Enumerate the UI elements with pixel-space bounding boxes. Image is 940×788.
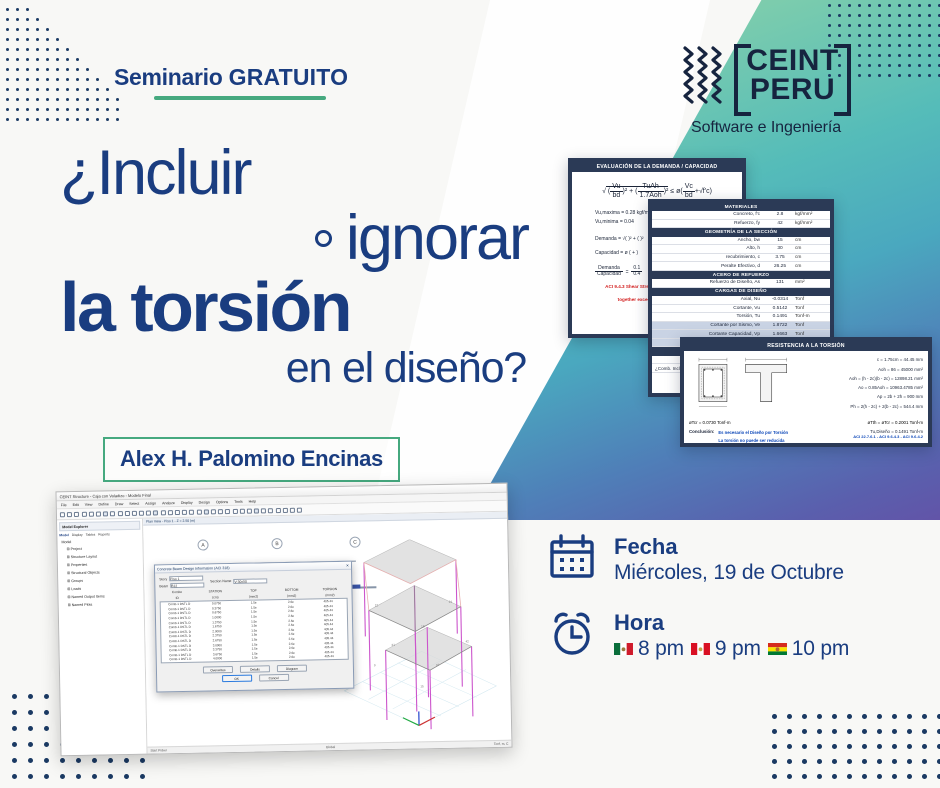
date-value: Miércoles, 19 de Octubre [614, 559, 844, 586]
card3-math-line: Ao = 0.85Aoh = 10963.4785 mm² [801, 383, 923, 392]
card3-code-line: ACI 22.7.6.1 - ACI 9.6.4.3 - ACI 9.6.4.2 [853, 434, 923, 439]
dot [802, 744, 807, 749]
dot [862, 759, 867, 764]
dialog-column-header: TOP [236, 588, 271, 593]
dialog-field-story: Story Piso 1 [159, 576, 204, 582]
dot [922, 774, 927, 779]
dot [922, 729, 927, 734]
toolbar-button[interactable] [96, 511, 101, 516]
timezone-list: 8 pm9 pm10 pm [614, 637, 849, 661]
dot [892, 714, 897, 719]
app-menu-item[interactable]: Analyze [162, 501, 175, 505]
toolbar-button[interactable] [196, 509, 201, 514]
dot [847, 744, 852, 749]
dialog-button[interactable]: Diagram [277, 665, 307, 673]
model-explorer-item[interactable]: ⊞ Named Plots [61, 600, 142, 609]
dot [922, 744, 927, 749]
toolbar-button[interactable] [139, 510, 144, 515]
toolbar-button[interactable] [275, 508, 280, 513]
logo-tagline: Software e Ingeniería [666, 119, 866, 137]
dot [802, 759, 807, 764]
toolbar-button[interactable] [160, 510, 165, 515]
card3-math-line: Ap = 2b + 2h = 900 mm [801, 392, 923, 401]
dot [787, 759, 792, 764]
kicker-text-part2: GRATUITO [229, 64, 349, 90]
card2-table-row: Torsión, Tu0.1491Tonf-m [652, 313, 830, 322]
headline-line-1: ¿Incluir [60, 142, 530, 205]
dialog-title: Concrete Beam Design Information (ACI 31… [157, 566, 230, 571]
toolbar-button[interactable] [204, 509, 209, 514]
flag-bolivia-icon [768, 642, 787, 655]
dialog-column-header: BOTTOM [274, 588, 309, 593]
dot [832, 774, 837, 779]
timezone-entry: 8 pm [614, 637, 684, 661]
seminar-kicker: Seminario GRATUITO [114, 64, 348, 100]
dialog-unit-cell: (mm2) [236, 594, 271, 599]
card2-table-row: Refuerzo, fy42kgf/mm² [652, 220, 830, 229]
dot [817, 729, 822, 734]
logo-bracket-frame: CEINT PERU [734, 44, 851, 108]
card2-section-title: CARGAS DE DISEÑO [652, 288, 830, 296]
toolbar-button[interactable] [261, 508, 266, 513]
beam-input[interactable]: B12 [170, 583, 204, 589]
story-input[interactable]: Piso 1 [169, 576, 203, 582]
model-explorer-tabs[interactable]: ModelDisplayTablesReports [59, 531, 140, 537]
software-screenshot: CEINT Structure - Caja con Voladizo - Mo… [55, 483, 512, 757]
dialog-close-icon[interactable]: ✕ [346, 563, 349, 567]
toolbar-button[interactable] [283, 507, 288, 512]
dot [907, 714, 912, 719]
timezone-time: 9 pm [715, 637, 761, 661]
svg-text:9: 9 [374, 663, 376, 667]
model-explorer-tab[interactable]: Reports [98, 532, 110, 536]
dot [847, 729, 852, 734]
dot [832, 714, 837, 719]
app-menu-item[interactable]: Define [98, 502, 108, 506]
dialog-column-header: TORSION [312, 587, 347, 592]
card2-table-row: Alto, h30cm [652, 245, 830, 254]
time-label: Hora [614, 610, 849, 635]
dialog-field-beam: Beam B12 [159, 583, 204, 589]
dialog-unit-cell: (mm2) [312, 593, 347, 598]
app-menu-item[interactable]: File [61, 503, 67, 507]
zigzag-wave-icon [681, 45, 725, 107]
card3-math-lines: c = 1.75cm = 44.45 mmAoh = 86 = 45000 mm… [801, 355, 923, 416]
model-explorer-tab[interactable]: Model [59, 533, 69, 537]
model-explorer-panel[interactable]: Model Explorer ModelDisplayTablesReports… [57, 519, 147, 756]
toolbar-button[interactable] [232, 508, 237, 513]
dot [772, 714, 777, 719]
dot [832, 744, 837, 749]
svg-text:42: 42 [465, 639, 469, 643]
dot [772, 759, 777, 764]
model-explorer-header: Model Explorer [59, 521, 140, 532]
dot [772, 744, 777, 749]
event-date-row: Fecha Miércoles, 19 de Octubre [548, 533, 928, 587]
dot [907, 744, 912, 749]
timezone-entry: 10 pm [768, 637, 849, 661]
dot [862, 729, 867, 734]
card3-section-figures [689, 355, 797, 416]
svg-text:31: 31 [391, 643, 395, 647]
toolbar-button[interactable] [132, 510, 137, 515]
dot [847, 774, 852, 779]
dot [787, 729, 792, 734]
app-menu-item[interactable]: Help [249, 499, 256, 503]
dot [907, 759, 912, 764]
app-menu-item[interactable]: Assign [145, 501, 156, 505]
toolbar-button[interactable] [103, 511, 108, 516]
model-explorer-items[interactable]: Model⊞ Project⊞ Structure Layout⊞ Proper… [59, 537, 141, 610]
card3-math-line: Aoh = 86 = 45000 mm² [801, 365, 923, 374]
dialog-ok-button[interactable]: OK [222, 675, 252, 683]
grid-label-a: A [197, 539, 208, 550]
dot [817, 759, 822, 764]
dot [802, 729, 807, 734]
card2-table-row: Axial, Nu-0.0314Tonf [652, 296, 830, 305]
svg-text:18: 18 [421, 624, 425, 628]
status-right: Tonf, m, C [494, 742, 509, 746]
dot [817, 774, 822, 779]
dot [892, 744, 897, 749]
svg-text:24: 24 [449, 600, 453, 604]
brand-logo: CEINT PERU Software e Ingeniería [666, 44, 866, 137]
grid-label-b: B [271, 538, 282, 549]
kicker-underline [154, 96, 326, 100]
toolbar-button[interactable] [211, 509, 216, 514]
headline-line-3: la torsión [60, 271, 530, 345]
dot [817, 714, 822, 719]
model-explorer-tab[interactable]: Tables [86, 532, 96, 536]
dialog-column-header: STATION [198, 589, 233, 594]
model-explorer-tab[interactable]: Display [72, 532, 83, 536]
app-menu-item[interactable]: Edit [73, 502, 79, 506]
dot [862, 744, 867, 749]
card3-conclusion-label: Conclusión: [689, 429, 714, 434]
section-input[interactable]: V-30x50 [233, 578, 267, 584]
logo-word-peru: PERU [746, 76, 839, 105]
dot [922, 714, 927, 719]
card1-title: EVALUACIÓN DE LA DEMANDA / CAPACIDAD [572, 162, 742, 172]
page-title: ¿Incluir ignorar la torsión en el diseño… [60, 142, 530, 392]
card2-table-row: Concreto, f'c2.8kgf/mm² [652, 211, 830, 220]
dialog-unit-cell: (mm2) [274, 594, 309, 599]
app-menu-item[interactable]: View [85, 502, 93, 506]
toolbar-button[interactable] [225, 509, 230, 514]
dot [877, 759, 882, 764]
toolbar-button[interactable] [254, 508, 259, 513]
card3-eq-right: øTth = øTcr = 0.2001 Tonf-m [867, 420, 923, 425]
dialog-unit-cell: ID [160, 596, 195, 601]
app-window-title: CEINT Structure - Caja con Voladizo - Mo… [60, 492, 151, 499]
card3-math-line: Ph = 2(h - 2c) + 2(b - 2c) = 544.4 mm [801, 402, 923, 411]
toolbar-button[interactable] [189, 509, 194, 514]
speaker-badge: Alex H. Palomino Encinas [103, 437, 400, 482]
dot [832, 759, 837, 764]
document-card-resistencia-torsion: RESISTENCIA A LA TORSIÓN [680, 337, 932, 447]
dot [907, 729, 912, 734]
headline-line-2-text: ignorar [346, 203, 528, 273]
app-menu-item[interactable]: Tools [234, 499, 242, 503]
event-details: Fecha Miércoles, 19 de Octubre Hora 8 pm… [548, 533, 928, 683]
dot [787, 744, 792, 749]
status-left: Start Picker [150, 748, 167, 752]
card3-math-line: c = 1.75cm = 44.45 mm [801, 355, 923, 364]
svg-text:12: 12 [375, 603, 379, 607]
dialog-button[interactable]: Overwrites [203, 666, 233, 674]
app-menu-item[interactable]: Design [199, 500, 210, 504]
toolbar-button[interactable] [153, 510, 158, 515]
app-menu-item[interactable]: Options [216, 500, 228, 504]
dot [862, 774, 867, 779]
flag-peru-icon [691, 642, 710, 655]
dialog-data-table[interactable]: Comb-1 DSTL D 0.07501.5e2.6e405.44Comb-1… [160, 598, 349, 664]
toolbar-button[interactable] [290, 507, 295, 512]
status-mid: Global [326, 745, 335, 749]
card2-table-row: Peralte Efectivo, d26.25cm [652, 262, 830, 271]
toolbar-button[interactable] [81, 511, 86, 516]
kicker-text-part1: Seminario [114, 64, 229, 90]
card2-table-row: recubrimiento, c3.75cm [652, 254, 830, 263]
dot [922, 759, 927, 764]
dot [772, 774, 777, 779]
dot [772, 729, 777, 734]
card3-conclusion-line2: La torsión no puede ser reducida [718, 437, 788, 443]
toolbar-button[interactable] [125, 510, 130, 515]
beam-design-dialog[interactable]: Concrete Beam Design Information (ACI 31… [154, 561, 354, 693]
dialog-field-section: Section Name V-30x50 [210, 574, 268, 587]
card1-main-formula: √ (Vubd)² + (TuAh1.7Aoh)² ≤ ø(Vcbd+√f'c) [577, 183, 737, 199]
dot [862, 714, 867, 719]
app-menu-item[interactable]: Draw [115, 502, 123, 506]
card3-math-line: Aoh = (h - 2c)(b - 2c) = 12898.21 mm² [801, 374, 923, 383]
toolbar-button[interactable] [247, 508, 252, 513]
timezone-entry: 9 pm [691, 637, 761, 661]
card2-section-title: ACERO DE REFUERZO [652, 271, 830, 279]
card3-eq-left: øTcr = 0.0730 Tonf-m [689, 420, 731, 425]
toolbar-button[interactable] [89, 511, 94, 516]
headline-line-2: ignorar [60, 205, 530, 271]
dot [877, 714, 882, 719]
flag-mexico-icon [614, 642, 633, 655]
toolbar-button[interactable] [74, 511, 79, 516]
timezone-time: 8 pm [638, 637, 684, 661]
dot [907, 774, 912, 779]
dot [832, 729, 837, 734]
3d-frame-model: 1218 2431 379 1542 [328, 538, 508, 737]
toolbar-button[interactable] [268, 508, 273, 513]
dot [892, 729, 897, 734]
circle-bullet-icon [315, 230, 332, 247]
dialog-unit-cell: (cm) [198, 595, 233, 600]
dot [817, 744, 822, 749]
toolbar-button[interactable] [218, 509, 223, 514]
dialog-column-header: Combo [159, 590, 194, 595]
dot [802, 774, 807, 779]
dot [892, 774, 897, 779]
dot [847, 759, 852, 764]
dialog-button[interactable]: Details [240, 665, 270, 673]
card2-table-row: Ancho, bw15cm [652, 237, 830, 246]
headline-line-4: en el diseño? [60, 345, 530, 392]
dot [847, 714, 852, 719]
dot [877, 744, 882, 749]
toolbar-button[interactable] [168, 510, 173, 515]
svg-text:15: 15 [420, 684, 424, 688]
app-menu-item[interactable]: Display [181, 500, 193, 504]
toolbar-button[interactable] [117, 511, 122, 516]
app-menu-item[interactable]: Select [129, 501, 139, 505]
toolbar-button[interactable] [182, 509, 187, 514]
svg-text:37: 37 [436, 663, 440, 667]
card2-table-row: Cortante por Sismo, Ve1.8722Tonf [652, 322, 830, 331]
toolbar-button[interactable] [297, 507, 302, 512]
card2-table-row: Cortante, Vu0.5142Tonf [652, 305, 830, 314]
dot [787, 774, 792, 779]
toolbar-button[interactable] [175, 509, 180, 514]
toolbar-button[interactable] [110, 511, 115, 516]
card2-section-title: GEOMETRÍA DE LA SECCIÓN [652, 228, 830, 236]
timezone-time: 10 pm [792, 637, 849, 661]
toolbar-button[interactable] [67, 512, 72, 517]
logo-word-ceint: CEINT [746, 47, 839, 76]
alarm-clock-icon [548, 609, 596, 657]
card3-title: RESISTENCIA A LA TORSIÓN [684, 341, 928, 351]
dot [877, 774, 882, 779]
calendar-icon [548, 533, 596, 581]
dot [877, 729, 882, 734]
toolbar-button[interactable] [240, 508, 245, 513]
dot [802, 714, 807, 719]
poster-canvas: Seminario GRATUITO ¿Incluir ignorar la t… [0, 0, 940, 788]
toolbar-button[interactable] [60, 512, 65, 517]
card3-conclusion-line1: Es necesario el Diseño por Torsión [718, 429, 788, 436]
dot [892, 759, 897, 764]
dot [787, 714, 792, 719]
date-label: Fecha [614, 534, 844, 559]
event-time-row: Hora 8 pm9 pm10 pm [548, 609, 928, 661]
card2-table-row: Refuerzo de Diseño, As131mm² [652, 279, 830, 288]
dialog-cancel-button[interactable]: Cancel [259, 674, 289, 682]
speaker-name: Alex H. Palomino Encinas [120, 446, 383, 472]
toolbar-button[interactable] [146, 510, 151, 515]
card2-section-title: MATERIALES [652, 203, 830, 211]
